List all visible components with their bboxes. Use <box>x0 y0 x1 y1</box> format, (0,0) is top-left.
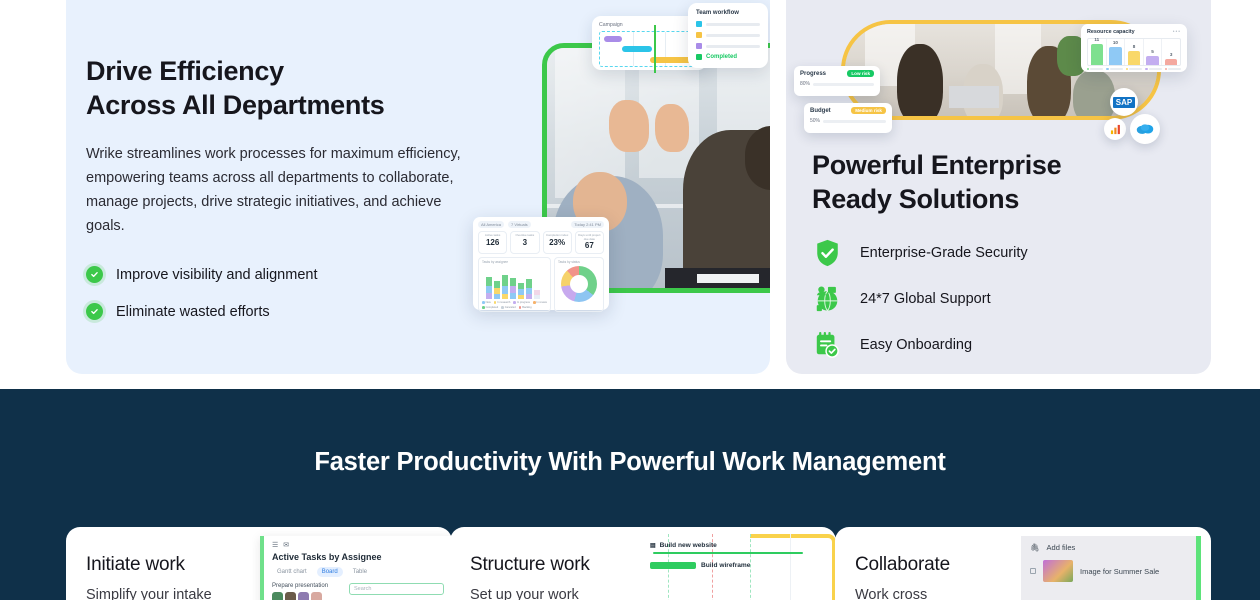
filter-people: 7 Virtuals <box>508 221 531 228</box>
kpi-value: 67 <box>577 241 602 250</box>
checkbox-icon[interactable] <box>1030 568 1036 574</box>
workflow-row-completed: Completed <box>696 54 760 60</box>
gantt-row: ▤ Build new website <box>650 542 820 549</box>
overflow-menu-icon[interactable]: ••• <box>1173 29 1181 35</box>
stacked-bar-chart <box>482 265 547 299</box>
resource-capacity-title: Resource capacity <box>1087 29 1135 35</box>
panel-toolbar: ☰ ✉ <box>272 541 444 549</box>
bullet-item: Improve visibility and alignment <box>86 266 486 283</box>
campaign-card-title: Campaign <box>599 22 700 28</box>
legend-item: Canceled <box>501 306 516 309</box>
bar-value: 11 <box>1091 37 1103 42</box>
headline-line-1: Powerful Enterprise <box>812 148 1182 182</box>
workflow-swatch-icon <box>696 43 702 49</box>
file-label: Image for Summer Sale <box>1080 567 1159 576</box>
panel-heading: Active Tasks by Assignee <box>272 552 444 562</box>
avatar <box>272 592 283 600</box>
budget-percent: 50% <box>810 118 820 124</box>
search-input[interactable]: Search <box>349 583 444 595</box>
dashboard-date: Today 2:41 PM <box>571 221 604 228</box>
legend-item: New <box>482 301 491 304</box>
tasks-by-assignee-panel: Tasks by assignee New In res <box>478 257 551 312</box>
kpi-label: Days until project due date <box>577 234 602 241</box>
legend-item: In review <box>533 301 547 304</box>
resource-legend <box>1087 68 1181 70</box>
avatar <box>298 592 309 600</box>
legend-label: Backlog <box>522 306 531 309</box>
progress-card: Progress Low risk 80% <box>794 66 880 96</box>
attachment-icon: 🖇 <box>1030 543 1040 552</box>
legend-item: Backlog <box>519 306 532 309</box>
resource-capacity-chart: 11 10 8 5 3 <box>1087 38 1181 66</box>
workflow-row <box>696 43 760 49</box>
legend-label: Completed <box>486 306 499 309</box>
calendar-check-icon <box>812 330 842 360</box>
tasks-by-status-panel: Tasks by status <box>554 257 604 312</box>
kpi-card: Overdue tasks 3 <box>510 231 539 254</box>
budget-title: Budget <box>810 108 831 114</box>
workflow-completed-label: Completed <box>706 54 737 60</box>
left-card-text: Drive Efficiency Across All Departments … <box>86 54 486 340</box>
kpi-card: Active tasks 126 <box>478 231 507 254</box>
headline-line-1: Drive Efficiency <box>86 54 486 88</box>
mail-icon: ✉ <box>283 541 289 549</box>
structure-work-art: ▤ Build new website Build wireframe <box>636 527 836 600</box>
bar-chart-legend: New In research In progress In review Co… <box>482 301 547 309</box>
task-card-title: Prepare presentation <box>272 583 342 589</box>
workflow-swatch-icon <box>696 54 702 60</box>
kpi-row: Active tasks 126 Overdue tasks 3 Complet… <box>478 231 604 254</box>
bar-panel-title: Tasks by assignee <box>482 260 547 264</box>
progress-percent: 80% <box>800 81 810 87</box>
sap-logo-text: SAP <box>1113 97 1135 108</box>
gantt-task-bar <box>650 562 696 569</box>
bottom-card-collaborate[interactable]: Collaborate Work cross 🖇 Add files Image… <box>835 527 1211 600</box>
feature-label: Easy Onboarding <box>860 337 972 353</box>
file-row[interactable]: Image for Summer Sale <box>1030 560 1187 582</box>
workflow-swatch-icon <box>696 21 702 27</box>
collaborate-art: 🖇 Add files Image for Summer Sale <box>1011 527 1211 600</box>
budget-card: Budget Medium risk 50% <box>804 103 892 133</box>
avatar <box>285 592 296 600</box>
feature-item-security: Enterprise-Grade Security <box>812 238 1182 268</box>
legend-label: New <box>486 301 491 304</box>
headline-line-2: Across All Departments <box>86 88 486 122</box>
left-card-headline: Drive Efficiency Across All Departments <box>86 54 486 122</box>
filter-region: All America <box>478 221 504 228</box>
legend-item: Completed <box>482 306 498 309</box>
list-icon: ☰ <box>272 541 278 549</box>
legend-item: In research <box>494 301 511 304</box>
team-workflow-card: Team workflow Completed <box>688 3 768 68</box>
dashboard-filters: All America 7 Virtuals Today 2:41 PM <box>478 221 604 228</box>
analytics-logo-icon <box>1104 118 1126 140</box>
active-tasks-panel: ☰ ✉ Active Tasks by Assignee Gantt chart… <box>260 536 452 600</box>
analytics-dashboard-card: All America 7 Virtuals Today 2:41 PM Act… <box>473 217 609 310</box>
bar-value: 10 <box>1109 40 1121 45</box>
shield-check-icon <box>812 238 842 268</box>
progress-title: Progress <box>800 71 826 77</box>
left-card-collage: Campaign Team workflow Comple <box>470 0 770 374</box>
gantt-summary-bar <box>653 552 803 554</box>
tab-table[interactable]: Table <box>348 567 372 577</box>
check-circle-icon <box>86 266 103 283</box>
enterprise-ready-card: Progress Low risk 80% Budget Medium risk… <box>786 0 1211 374</box>
view-tabs: Gantt chart Board Table <box>272 567 444 577</box>
right-card-headline: Powerful Enterprise Ready Solutions <box>812 148 1182 216</box>
legend-label: Canceled <box>505 306 516 309</box>
add-files-label: Add files <box>1047 543 1076 552</box>
headline-line-2: Ready Solutions <box>812 182 1182 216</box>
file-thumbnail <box>1043 560 1073 582</box>
kpi-value: 23% <box>545 238 570 247</box>
bottom-card-initiate-work[interactable]: Initiate work Simplify your intake ☰ ✉ A… <box>66 527 452 600</box>
bullet-label: Eliminate wasted efforts <box>116 304 270 320</box>
assignee-avatars <box>272 592 342 600</box>
legend-label: In review <box>537 301 547 304</box>
salesforce-logo-icon <box>1130 114 1160 144</box>
check-circle-icon <box>86 303 103 320</box>
sap-logo-icon: SAP <box>1110 88 1138 116</box>
donut-chart <box>561 266 597 302</box>
bottom-card-subtitle: Simplify your intake <box>86 585 246 600</box>
left-card-body: Wrike streamlines work processes for max… <box>86 142 478 238</box>
resource-capacity-card: Resource capacity ••• 11 10 8 5 3 <box>1081 24 1187 72</box>
bottom-card-title: Initiate work <box>86 554 185 576</box>
band-title: Faster Productivity With Powerful Work M… <box>0 448 1260 477</box>
right-card-collage: Progress Low risk 80% Budget Medium risk… <box>786 0 1211 148</box>
kpi-value: 3 <box>512 238 537 247</box>
bullet-label: Improve visibility and alignment <box>116 267 317 283</box>
legend-label: In progress <box>517 301 530 304</box>
tab-board[interactable]: Board <box>317 567 343 577</box>
globe-support-icon <box>812 284 842 314</box>
donut-panel-title: Tasks by status <box>558 260 600 264</box>
files-panel: 🖇 Add files Image for Summer Sale <box>1021 536 1201 600</box>
dashboard-panels: Tasks by assignee New In res <box>478 257 604 312</box>
bottom-card-title: Collaborate <box>855 554 950 576</box>
workflow-row <box>696 32 760 38</box>
kpi-card: Completion index 23% <box>543 231 572 254</box>
gantt-rows: ▤ Build new website Build wireframe <box>650 542 820 569</box>
bullet-item: Eliminate wasted efforts <box>86 303 486 320</box>
bar-value: 5 <box>1146 49 1158 54</box>
gantt-row-label: Build new website <box>660 542 717 549</box>
team-workflow-title: Team workflow <box>696 10 760 16</box>
legend-label: In research <box>497 301 510 304</box>
gantt-row-label: Build wireframe <box>701 562 750 569</box>
bottom-card-subtitle: Set up your work <box>470 585 630 600</box>
bar-value: 3 <box>1165 52 1177 57</box>
legend-item: In progress <box>513 301 530 304</box>
kpi-value: 126 <box>480 238 505 247</box>
drive-efficiency-card: Drive Efficiency Across All Departments … <box>66 0 770 374</box>
feature-label: Enterprise-Grade Security <box>860 245 1028 261</box>
bar-value: 8 <box>1128 44 1140 49</box>
right-card-text: Powerful Enterprise Ready Solutions Ente… <box>812 148 1182 374</box>
budget-badge: Medium risk <box>851 107 886 114</box>
avatar <box>311 592 322 600</box>
top-section: Drive Efficiency Across All Departments … <box>0 0 1260 389</box>
campaign-gantt-grid <box>599 31 700 67</box>
initiate-work-art: ☰ ✉ Active Tasks by Assignee Gantt chart… <box>252 527 452 600</box>
progress-badge: Low risk <box>847 70 874 77</box>
workflow-swatch-icon <box>696 32 702 38</box>
folder-icon: ▤ <box>650 542 656 549</box>
bottom-card-subtitle: Work cross <box>855 585 1015 600</box>
tab-gantt-chart[interactable]: Gantt chart <box>272 567 312 577</box>
task-card: Prepare presentation <box>272 583 342 600</box>
feature-label: 24*7 Global Support <box>860 291 991 307</box>
bottom-card-structure-work[interactable]: Structure work Set up your work ▤ Build … <box>450 527 836 600</box>
feature-item-onboarding: Easy Onboarding <box>812 330 1182 360</box>
bottom-card-title: Structure work <box>470 554 590 576</box>
workflow-row <box>696 21 760 27</box>
add-files-row[interactable]: 🖇 Add files <box>1030 543 1187 552</box>
feature-item-support: 24*7 Global Support <box>812 284 1182 314</box>
kpi-card: Days until project due date 67 <box>575 231 604 254</box>
left-card-bullets: Improve visibility and alignment Elimina… <box>86 266 486 320</box>
